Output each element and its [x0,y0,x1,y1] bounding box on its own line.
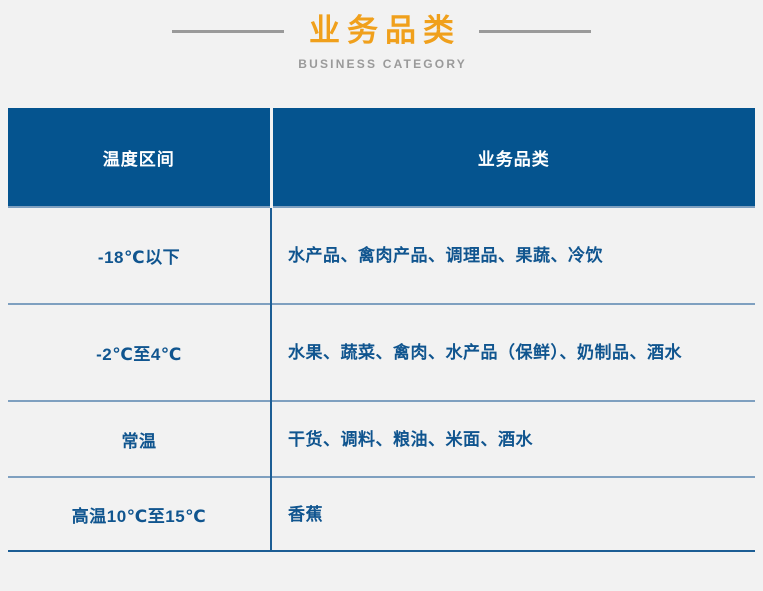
page-title-block: 业务品类 BUSINESS CATEGORY [0,0,763,108]
page-subtitle: BUSINESS CATEGORY [296,57,467,71]
cell-category: 水产品、禽肉产品、调理品、果蔬、冷饮 [271,207,755,304]
business-category-table-wrapper: 温度区间 业务品类 -18℃以下 水产品、禽肉产品、调理品、果蔬、冷饮 -2℃至… [8,108,755,552]
table-body: -18℃以下 水产品、禽肉产品、调理品、果蔬、冷饮 -2℃至4℃ 水果、蔬菜、禽… [8,207,755,550]
title-rule-right-icon [479,30,591,33]
column-header-temperature: 温度区间 [8,108,271,207]
cell-temperature: 常温 [8,401,271,477]
title-rule-left-icon [172,30,284,33]
cell-temperature: -2℃至4℃ [8,304,271,401]
table-row: 高温10℃至15℃ 香蕉 [8,477,755,550]
cell-category: 干货、调料、粮油、米面、酒水 [271,401,755,477]
table-row: 常温 干货、调料、粮油、米面、酒水 [8,401,755,477]
table-header: 温度区间 业务品类 [8,108,755,207]
page-title: 业务品类 [302,12,461,50]
cell-category: 水果、蔬菜、禽肉、水产品（保鲜）、奶制品、酒水 [271,304,755,401]
column-header-category: 业务品类 [271,108,755,207]
cell-temperature: -18℃以下 [8,207,271,304]
table-row: -18℃以下 水产品、禽肉产品、调理品、果蔬、冷饮 [8,207,755,304]
table-header-row: 温度区间 业务品类 [8,108,755,207]
business-category-table: 温度区间 业务品类 -18℃以下 水产品、禽肉产品、调理品、果蔬、冷饮 -2℃至… [8,108,755,550]
title-row: 业务品类 [0,12,763,50]
table-row: -2℃至4℃ 水果、蔬菜、禽肉、水产品（保鲜）、奶制品、酒水 [8,304,755,401]
cell-temperature: 高温10℃至15℃ [8,477,271,550]
cell-category: 香蕉 [271,477,755,550]
